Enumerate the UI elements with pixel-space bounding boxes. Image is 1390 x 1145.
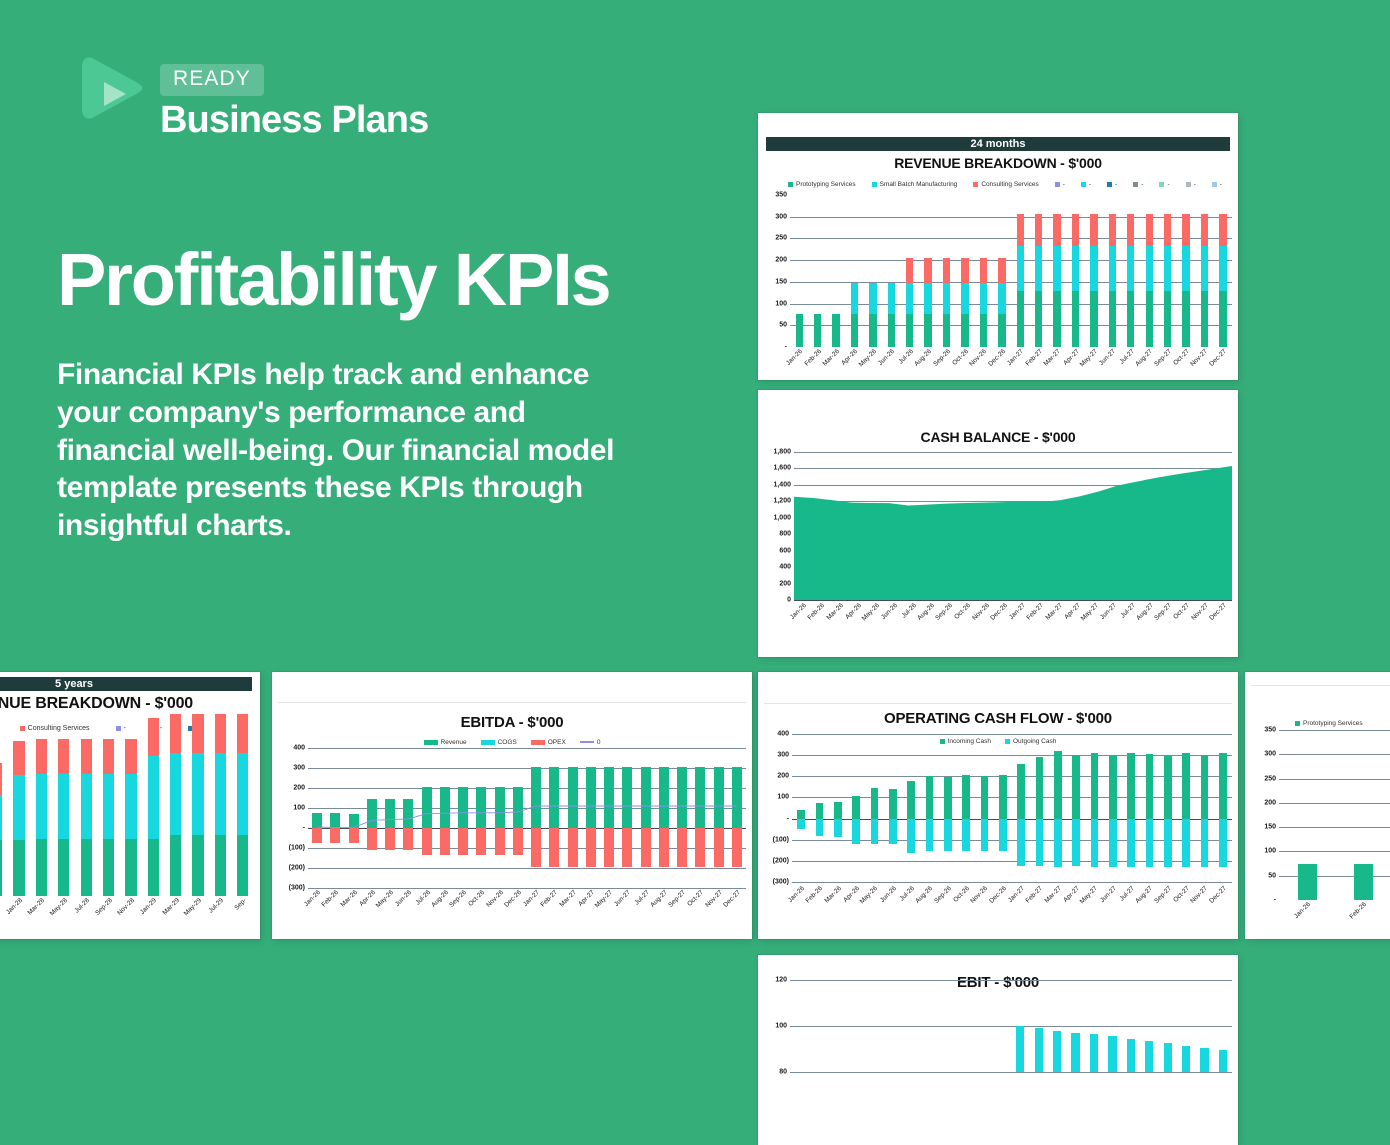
bar-group[interactable] bbox=[1122, 195, 1140, 347]
bar-group[interactable] bbox=[810, 734, 828, 882]
bar-segment bbox=[1053, 214, 1060, 246]
bar-group[interactable] bbox=[808, 195, 826, 347]
bar-segment bbox=[962, 819, 970, 852]
bar-group[interactable] bbox=[1214, 980, 1232, 1072]
bar-segment bbox=[0, 795, 2, 841]
gridlines bbox=[790, 980, 1232, 1072]
y-axis-tick-label: (300) bbox=[289, 885, 305, 892]
bar-group[interactable] bbox=[1140, 980, 1158, 1072]
bar-group[interactable] bbox=[1011, 980, 1029, 1072]
bar-segment bbox=[1109, 291, 1116, 347]
page-description: Financial KPIs help track and enhance yo… bbox=[57, 356, 647, 545]
bar-segment bbox=[103, 774, 114, 839]
x-axis-tick: May-29 bbox=[187, 896, 209, 926]
bar-group[interactable] bbox=[1195, 195, 1213, 347]
bar-segment bbox=[943, 314, 950, 347]
bar-segment bbox=[888, 314, 895, 347]
bar-group[interactable] bbox=[1214, 734, 1232, 882]
bar-group[interactable] bbox=[1048, 195, 1066, 347]
bar-group[interactable] bbox=[418, 748, 436, 888]
x-axis-tick: Dec-27 bbox=[1214, 601, 1232, 631]
bar-group[interactable] bbox=[1335, 730, 1390, 900]
legend-item[interactable]: Consulting Services bbox=[20, 725, 90, 732]
bar-group[interactable] bbox=[527, 748, 545, 888]
x-axis-labels: Jan-26Feb-26Mar-26Apr-26May-26Jun-26Jul-… bbox=[790, 347, 1232, 377]
legend-item[interactable]: - bbox=[1186, 181, 1196, 188]
bar-group[interactable] bbox=[545, 748, 563, 888]
bar-segment bbox=[330, 828, 340, 843]
bar-group[interactable] bbox=[673, 748, 691, 888]
bar-segment bbox=[943, 283, 950, 314]
legend-item[interactable]: - bbox=[1107, 181, 1117, 188]
bar-group[interactable] bbox=[847, 734, 865, 882]
legend-label: - bbox=[1220, 181, 1222, 188]
x-axis-labels: Jan-26Feb-26Mar-26Apr-26May-26Jun-26Jul-… bbox=[792, 884, 1232, 914]
bar-group[interactable] bbox=[1011, 195, 1029, 347]
y-axis-tick-label: 1,200 bbox=[773, 498, 791, 505]
legend-color-swatch bbox=[1295, 721, 1300, 726]
bar-group[interactable] bbox=[564, 748, 582, 888]
bar-segment bbox=[148, 756, 159, 839]
bar-segment bbox=[907, 819, 915, 854]
bar-group[interactable] bbox=[993, 195, 1011, 347]
bar-group[interactable] bbox=[1066, 195, 1084, 347]
bar-group[interactable] bbox=[1214, 195, 1232, 347]
bar-segment bbox=[1200, 1048, 1208, 1072]
legend-color-swatch bbox=[481, 740, 495, 745]
bar-segment bbox=[695, 767, 705, 828]
bar-segment bbox=[1035, 246, 1042, 292]
bar-group[interactable] bbox=[1048, 980, 1066, 1072]
chart-panel-cash-balance[interactable]: CASH BALANCE - $'000 02004006008001,0001… bbox=[758, 390, 1238, 657]
bar-segment bbox=[148, 718, 159, 756]
bar-group[interactable] bbox=[399, 748, 417, 888]
bar-group[interactable] bbox=[1085, 195, 1103, 347]
bar-group[interactable] bbox=[1085, 980, 1103, 1072]
x-axis-tick-label: Jan-29 bbox=[139, 897, 158, 916]
x-axis-tick-label: Jan-26 bbox=[787, 885, 806, 904]
bar-group[interactable] bbox=[920, 734, 938, 882]
bar-segment bbox=[103, 739, 114, 774]
y-axis-labels: (300)(200)(100)-100200300400 bbox=[278, 748, 308, 888]
bar-segment bbox=[1146, 819, 1154, 868]
bar-group[interactable] bbox=[600, 748, 618, 888]
x-axis-tick: Jun-26 bbox=[885, 601, 903, 631]
period-label-5-years: 5 years bbox=[0, 677, 252, 691]
bar-segment bbox=[1109, 246, 1116, 292]
bar-group[interactable] bbox=[1104, 734, 1122, 882]
bar-segment bbox=[998, 314, 1005, 347]
bar-segment bbox=[1219, 753, 1227, 819]
bar-segment bbox=[13, 840, 24, 896]
bar-group[interactable] bbox=[956, 980, 974, 1072]
x-axis-tick: Jan-26 bbox=[1279, 900, 1335, 930]
bar-group[interactable] bbox=[1066, 980, 1084, 1072]
bar-group[interactable] bbox=[1195, 734, 1213, 882]
bar-group[interactable] bbox=[1122, 734, 1140, 882]
bar-segment bbox=[871, 819, 879, 845]
y-axis-labels: (300)(200)(100)-100200300400 bbox=[764, 734, 792, 882]
bar-group[interactable] bbox=[919, 980, 937, 1072]
bar-series bbox=[790, 195, 1232, 347]
bar-group[interactable] bbox=[937, 980, 955, 1072]
legend-color-swatch bbox=[116, 726, 121, 731]
bar-group[interactable] bbox=[0, 744, 8, 896]
legend-item[interactable]: - bbox=[1133, 181, 1143, 188]
bar-group[interactable] bbox=[865, 734, 883, 882]
bar-group[interactable] bbox=[790, 195, 808, 347]
x-axis-tick-label: Nov-27 bbox=[0, 897, 2, 917]
bar-group[interactable] bbox=[655, 748, 673, 888]
bar-segment bbox=[549, 828, 559, 867]
bar-group[interactable] bbox=[994, 734, 1012, 882]
legend-item[interactable]: - bbox=[1159, 181, 1169, 188]
bar-segment bbox=[1164, 246, 1171, 292]
bar-segment bbox=[1182, 753, 1190, 819]
bar-group[interactable] bbox=[1158, 980, 1176, 1072]
y-axis-tick-label: 50 bbox=[1268, 872, 1276, 879]
chart-title: OPERATING CASH FLOW - $'000 bbox=[758, 710, 1238, 727]
legend-color-swatch bbox=[973, 182, 978, 187]
chart-panel-operating-cash-flow[interactable]: OPERATING CASH FLOW - $'000 Incoming Cas… bbox=[758, 672, 1238, 939]
bar-group[interactable] bbox=[1103, 195, 1121, 347]
bar-segment bbox=[125, 839, 136, 896]
bar-segment bbox=[1145, 1041, 1153, 1072]
bar-segment bbox=[1354, 864, 1373, 900]
legend-item[interactable]: Consulting Services bbox=[973, 181, 1038, 188]
y-axis-tick-label: (200) bbox=[289, 865, 305, 872]
bar-group[interactable] bbox=[993, 980, 1011, 1072]
bar-segment bbox=[1091, 819, 1099, 867]
legend-item[interactable]: - bbox=[1212, 181, 1222, 188]
bar-group[interactable] bbox=[1012, 734, 1030, 882]
bar-group[interactable] bbox=[884, 734, 902, 882]
bar-segment bbox=[1219, 214, 1226, 246]
bar-segment bbox=[659, 828, 669, 867]
bar-group[interactable] bbox=[1177, 734, 1195, 882]
bar-group[interactable] bbox=[829, 734, 847, 882]
y-axis-tick-label: (100) bbox=[289, 845, 305, 852]
legend-label: OPEX bbox=[548, 739, 566, 746]
bar-segment bbox=[796, 314, 803, 347]
bar-segment bbox=[1072, 819, 1080, 866]
bar-segment bbox=[980, 258, 987, 283]
bar-segment bbox=[1109, 819, 1117, 867]
bar-group[interactable] bbox=[792, 734, 810, 882]
y-axis-tick-label: 150 bbox=[775, 278, 787, 285]
y-axis-labels: -50100150200250300350 bbox=[764, 195, 790, 347]
bar-group[interactable] bbox=[790, 980, 808, 1072]
x-axis-tick-label: Nov-28 bbox=[116, 897, 136, 917]
bar-group[interactable] bbox=[901, 195, 919, 347]
gridlines bbox=[1279, 730, 1390, 900]
bar-group[interactable] bbox=[582, 748, 600, 888]
bar-segment bbox=[495, 787, 505, 828]
bar-segment bbox=[476, 828, 486, 855]
x-axis-tick-label: Jan-28 bbox=[5, 897, 24, 916]
brand-name: Business Plans bbox=[160, 101, 428, 141]
bar-group[interactable] bbox=[1103, 980, 1121, 1072]
bar-group[interactable] bbox=[436, 748, 454, 888]
bar-group[interactable] bbox=[30, 744, 52, 896]
legend-item[interactable]: - bbox=[116, 725, 126, 732]
bar-segment bbox=[1053, 1031, 1061, 1072]
legend-color-swatch bbox=[20, 726, 25, 731]
bar-segment bbox=[586, 828, 596, 867]
bar-group[interactable] bbox=[53, 744, 75, 896]
x-axis-tick: Dec-27 bbox=[728, 888, 746, 918]
chart-panel-ebitda[interactable]: EBITDA - $'000 RevenueCOGSOPEX0 (300)(20… bbox=[272, 672, 752, 939]
bar-group[interactable] bbox=[864, 980, 882, 1072]
legend-label: - bbox=[1115, 181, 1117, 188]
plot-area: (300)(200)(100)-100200300400 bbox=[278, 748, 746, 888]
bar-segment bbox=[170, 714, 181, 752]
bar-segment bbox=[944, 777, 952, 819]
bar-segment bbox=[907, 781, 915, 819]
legend-label: Consulting Services bbox=[28, 725, 90, 732]
bar-group[interactable] bbox=[1279, 730, 1335, 900]
bar-group[interactable] bbox=[1067, 734, 1085, 882]
y-axis-tick-label: 50 bbox=[779, 322, 787, 329]
legend-item[interactable]: - bbox=[1055, 181, 1065, 188]
bar-group[interactable] bbox=[308, 748, 326, 888]
bar-group[interactable] bbox=[472, 748, 490, 888]
bar-group[interactable] bbox=[691, 748, 709, 888]
bar-segment bbox=[170, 835, 181, 896]
bar-group[interactable] bbox=[618, 748, 636, 888]
bar-group[interactable] bbox=[187, 744, 209, 896]
bar-segment bbox=[58, 774, 69, 839]
bar-group[interactable] bbox=[1085, 734, 1103, 882]
bar-segment bbox=[125, 774, 136, 839]
bar-segment bbox=[832, 314, 839, 347]
bar-segment bbox=[58, 839, 69, 896]
y-axis-tick-label: - bbox=[1274, 897, 1276, 904]
legend-item[interactable]: OPEX bbox=[531, 739, 566, 746]
x-axis-tick-label: Sep- bbox=[233, 897, 248, 912]
bar-group[interactable] bbox=[1029, 980, 1047, 1072]
bar-group[interactable] bbox=[1140, 734, 1158, 882]
bar-segment bbox=[192, 835, 203, 896]
bar-segment bbox=[816, 803, 824, 818]
bar-group[interactable] bbox=[345, 748, 363, 888]
legend-color-swatch bbox=[1133, 182, 1138, 187]
bar-segment bbox=[148, 839, 159, 896]
bar-group[interactable] bbox=[1049, 734, 1067, 882]
bar-segment bbox=[998, 258, 1005, 283]
gridlines bbox=[794, 452, 1232, 600]
bar-group[interactable] bbox=[974, 195, 992, 347]
bar-group[interactable] bbox=[845, 195, 863, 347]
bar-group[interactable] bbox=[1158, 195, 1176, 347]
bar-group[interactable] bbox=[1177, 980, 1195, 1072]
bar-segment bbox=[1182, 246, 1189, 292]
bar-segment bbox=[906, 283, 913, 314]
x-axis-tick: May-28 bbox=[53, 896, 75, 926]
bar-group[interactable] bbox=[939, 734, 957, 882]
y-axis-tick-label: 350 bbox=[775, 192, 787, 199]
bar-group[interactable] bbox=[8, 744, 30, 896]
bar-group[interactable] bbox=[974, 980, 992, 1072]
bar-segment bbox=[237, 835, 248, 896]
bar-segment bbox=[1146, 291, 1153, 347]
bar-group[interactable] bbox=[901, 980, 919, 1072]
legend-item[interactable]: COGS bbox=[481, 739, 517, 746]
bar-group[interactable] bbox=[363, 748, 381, 888]
chart-panel-revenue-breakdown-partial[interactable]: Prototyping Services -501001502002503003… bbox=[1245, 672, 1390, 939]
bar-segment bbox=[1146, 246, 1153, 292]
bar-segment bbox=[797, 810, 805, 818]
bar-group[interactable] bbox=[710, 748, 728, 888]
bar-segment bbox=[981, 819, 989, 852]
bar-segment bbox=[869, 283, 876, 314]
legend-label: - bbox=[1167, 181, 1169, 188]
legend-label: - bbox=[1141, 181, 1143, 188]
bar-segment bbox=[1219, 819, 1227, 868]
bar-group[interactable] bbox=[1177, 195, 1195, 347]
bar-group[interactable] bbox=[728, 748, 746, 888]
legend-item[interactable]: Small Batch Manufacturing bbox=[872, 181, 958, 188]
bar-group[interactable] bbox=[637, 748, 655, 888]
bar-segment bbox=[81, 839, 92, 896]
legend-label: Small Batch Manufacturing bbox=[880, 181, 958, 188]
bar-group[interactable] bbox=[882, 980, 900, 1072]
bar-group[interactable] bbox=[142, 744, 164, 896]
x-axis-tick-label: Jul-27 bbox=[633, 889, 650, 906]
legend-item[interactable]: Revenue bbox=[424, 739, 467, 746]
bar-series bbox=[0, 744, 254, 896]
bar-group[interactable] bbox=[1030, 734, 1048, 882]
bar-group[interactable] bbox=[827, 195, 845, 347]
bar-group[interactable] bbox=[491, 748, 509, 888]
bar-segment bbox=[36, 739, 47, 774]
y-axis-tick-label: - bbox=[787, 815, 789, 822]
bar-group[interactable] bbox=[209, 744, 231, 896]
bar-group[interactable] bbox=[864, 195, 882, 347]
bar-segment bbox=[981, 776, 989, 818]
bar-group[interactable] bbox=[882, 195, 900, 347]
bar-segment bbox=[13, 741, 24, 776]
divider bbox=[278, 702, 746, 703]
chart-panel-revenue-breakdown-24m[interactable]: 24 months REVENUE BREAKDOWN - $'000 Prot… bbox=[758, 113, 1238, 380]
legend-item[interactable]: Prototyping Services bbox=[788, 181, 856, 188]
bar-segment bbox=[1017, 246, 1024, 292]
bar-segment bbox=[816, 819, 824, 836]
bar-group[interactable] bbox=[808, 980, 826, 1072]
x-axis-tick: Dec-27 bbox=[1214, 347, 1232, 377]
x-axis-tick-label: Jul-27 bbox=[1118, 348, 1135, 365]
bar-segment bbox=[641, 828, 651, 867]
legend-color-swatch bbox=[424, 740, 438, 745]
bar-group[interactable] bbox=[957, 734, 975, 882]
bar-group[interactable] bbox=[919, 195, 937, 347]
chart-panel-revenue-breakdown-5y[interactable]: 5 years REVENUE BREAKDOWN - $'000 Small … bbox=[0, 672, 260, 939]
bar-segment bbox=[1035, 214, 1042, 246]
plot-area: 02004006008001,0001,2001,4001,6001,800 bbox=[764, 452, 1232, 600]
bar-segment bbox=[215, 714, 226, 752]
legend-item[interactable]: Prototyping Services bbox=[1295, 720, 1363, 727]
bar-group[interactable] bbox=[75, 744, 97, 896]
y-axis-tick-label: 0 bbox=[787, 597, 791, 604]
bar-segment bbox=[513, 828, 523, 855]
y-axis-tick-label: 80 bbox=[779, 1069, 787, 1076]
bar-segment bbox=[1219, 1050, 1227, 1072]
bar-group[interactable] bbox=[902, 734, 920, 882]
bar-segment bbox=[458, 787, 468, 828]
x-axis-tick-label: Jan-26 bbox=[303, 889, 322, 908]
plot-area: 80100120 bbox=[764, 980, 1232, 1072]
legend-label: - bbox=[1063, 181, 1065, 188]
bar-segment bbox=[58, 739, 69, 774]
bar-group[interactable] bbox=[454, 748, 472, 888]
bar-segment bbox=[1164, 291, 1171, 347]
bar-segment bbox=[1182, 291, 1189, 347]
bar-segment bbox=[961, 258, 968, 283]
bar-segment bbox=[422, 787, 432, 828]
bar-group[interactable] bbox=[120, 744, 142, 896]
chart-panel-ebit[interactable]: EBIT - $'000 80100120 bbox=[758, 955, 1238, 1145]
legend-label: - bbox=[1194, 181, 1196, 188]
y-axis-tick-label: - bbox=[785, 344, 787, 351]
bar-segment bbox=[732, 767, 742, 828]
bar-segment bbox=[1072, 246, 1079, 292]
bar-segment bbox=[422, 828, 432, 855]
bar-group[interactable] bbox=[827, 980, 845, 1072]
bar-segment bbox=[349, 828, 359, 843]
legend-color-swatch bbox=[1186, 182, 1191, 187]
bar-segment bbox=[889, 819, 897, 845]
bar-segment bbox=[999, 775, 1007, 819]
bar-segment bbox=[1090, 214, 1097, 246]
bar-group[interactable] bbox=[326, 748, 344, 888]
bar-group[interactable] bbox=[1195, 980, 1213, 1072]
bar-group[interactable] bbox=[381, 748, 399, 888]
bar-group[interactable] bbox=[956, 195, 974, 347]
legend-color-swatch bbox=[872, 182, 877, 187]
y-axis-tick-label: 400 bbox=[779, 564, 791, 571]
chart-title: CASH BALANCE - $'000 bbox=[758, 429, 1238, 445]
legend-item[interactable]: 0 bbox=[580, 739, 601, 746]
bar-segment bbox=[1182, 214, 1189, 246]
y-axis-tick-label: 1,800 bbox=[773, 449, 791, 456]
bar-group[interactable] bbox=[1159, 734, 1177, 882]
bar-segment bbox=[1035, 1028, 1043, 1072]
legend-item[interactable]: - bbox=[1081, 181, 1091, 188]
bar-segment bbox=[1053, 291, 1060, 347]
bar-segment bbox=[695, 828, 705, 867]
bar-group[interactable] bbox=[97, 744, 119, 896]
y-axis-tick-label: 400 bbox=[777, 731, 789, 738]
bar-segment bbox=[1182, 1046, 1190, 1072]
bar-series bbox=[792, 734, 1232, 882]
bar-group[interactable] bbox=[1122, 980, 1140, 1072]
bar-group[interactable] bbox=[1029, 195, 1047, 347]
bar-group[interactable] bbox=[232, 744, 254, 896]
bar-segment bbox=[962, 775, 970, 819]
bar-group[interactable] bbox=[975, 734, 993, 882]
bar-segment bbox=[1017, 764, 1025, 818]
bar-segment bbox=[1053, 246, 1060, 292]
bar-group[interactable] bbox=[845, 980, 863, 1072]
y-axis-tick-label: 100 bbox=[775, 1023, 787, 1030]
bar-group[interactable] bbox=[937, 195, 955, 347]
bar-segment bbox=[1146, 754, 1154, 818]
bar-group[interactable] bbox=[509, 748, 527, 888]
bar-group[interactable] bbox=[1140, 195, 1158, 347]
y-axis-tick-label: 300 bbox=[777, 752, 789, 759]
bar-group[interactable] bbox=[165, 744, 187, 896]
bar-segment bbox=[549, 767, 559, 828]
